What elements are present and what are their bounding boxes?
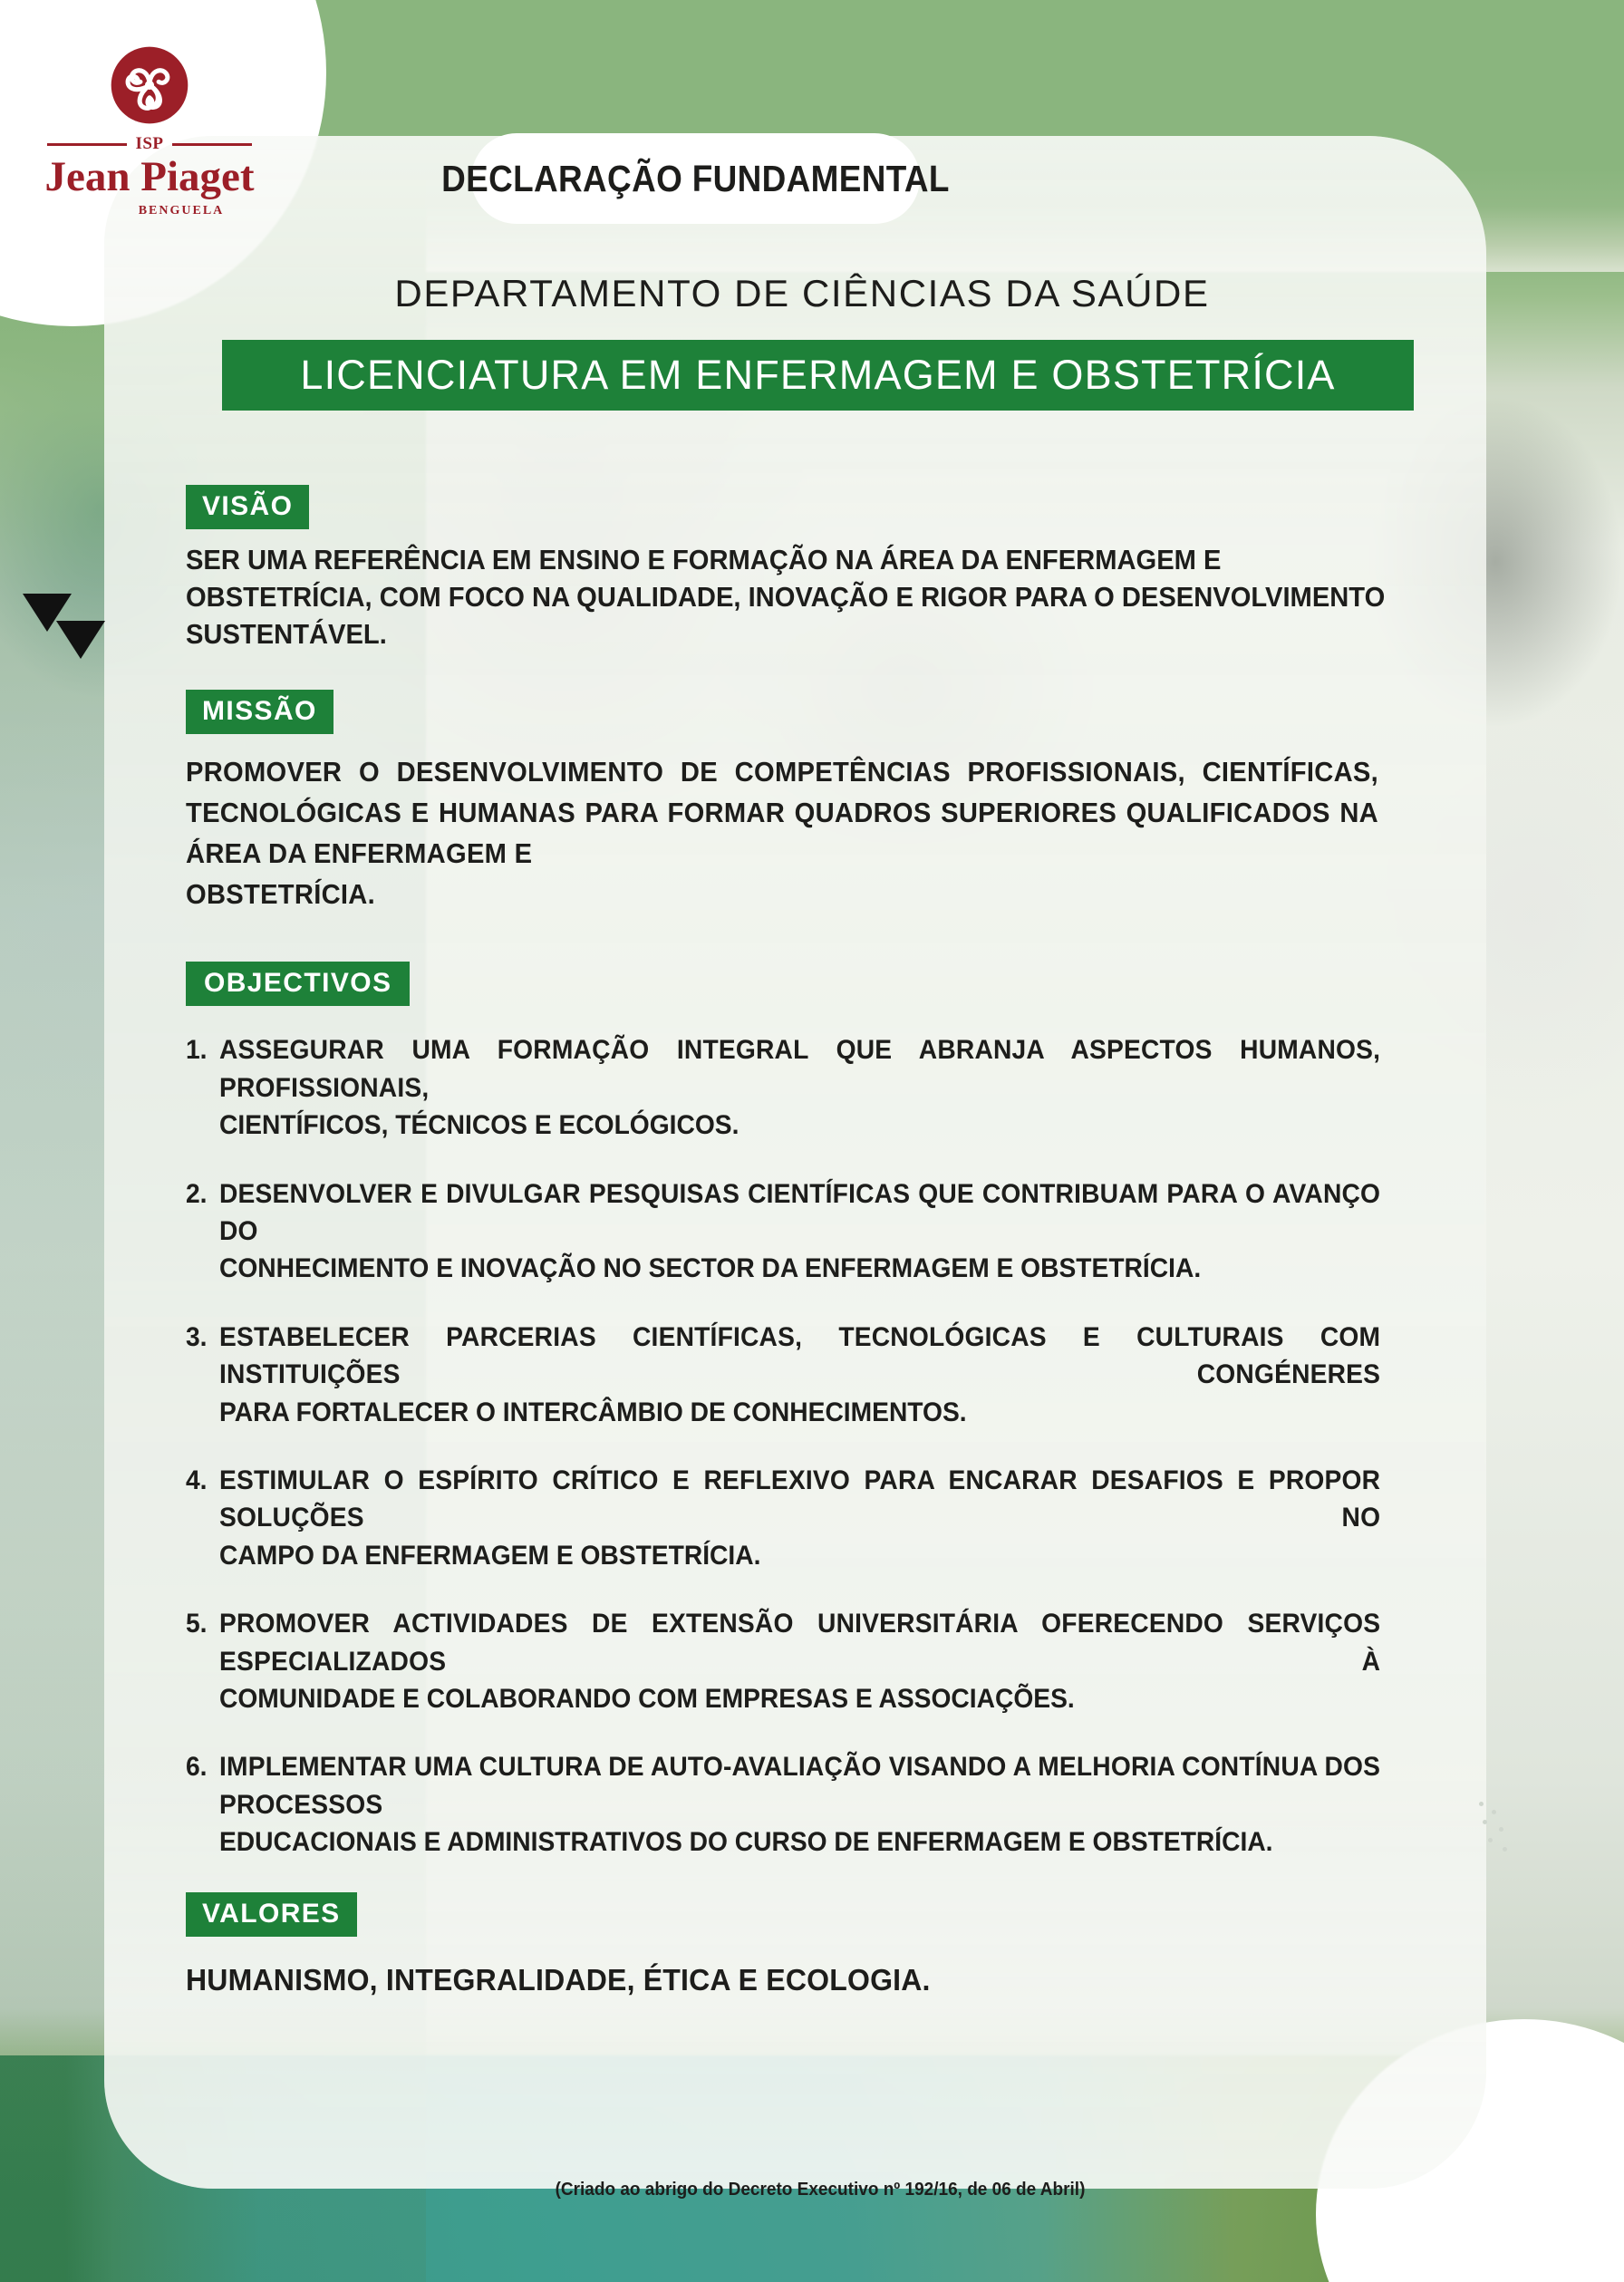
objective-text: DESENVOLVER E DIVULGAR PESQUISAS CIENTÍF…: [219, 1175, 1380, 1288]
section-vision: VISÃO SER UMA REFERÊNCIA EM ENSINO E FOR…: [186, 485, 1455, 653]
dot-cluster-decoration: [1479, 1802, 1515, 1856]
logo-city: BENGUELA: [82, 204, 281, 218]
objective-line-1: ASSEGURAR UMA FORMAÇÃO INTEGRAL QUE ABRA…: [219, 1031, 1380, 1107]
list-item: 3. ESTABELECER PARCERIAS CIENTÍFICAS, TE…: [186, 1319, 1455, 1431]
objective-line-1: ESTABELECER PARCERIAS CIENTÍFICAS, TECNO…: [219, 1319, 1380, 1394]
logo-acronym: ISP: [135, 134, 163, 154]
values-text: HUMANISMO, INTEGRALIDADE, ÉTICA E ECOLOG…: [186, 1960, 1416, 2000]
institution-logo: ISP Jean Piaget BENGUELA: [18, 44, 281, 218]
content-sections: VISÃO SER UMA REFERÊNCIA EM ENSINO E FOR…: [186, 485, 1455, 1999]
objective-number: 3.: [186, 1319, 208, 1431]
logo-isp-row: ISP: [18, 134, 281, 154]
list-item: 2. DESENVOLVER E DIVULGAR PESQUISAS CIEN…: [186, 1175, 1455, 1288]
objective-text: ASSEGURAR UMA FORMAÇÃO INTEGRAL QUE ABRA…: [219, 1031, 1380, 1144]
objective-line-1: ESTIMULAR O ESPÍRITO CRÍTICO E REFLEXIVO…: [219, 1462, 1380, 1537]
triskelion-icon: [108, 44, 191, 127]
badge-mission: MISSÃO: [186, 690, 333, 734]
department-subtitle: DEPARTAMENTO DE CIÊNCIAS DA SAÚDE: [245, 272, 1359, 315]
list-item: 6. IMPLEMENTAR UMA CULTURA DE AUTO-AVALI…: [186, 1748, 1455, 1861]
objective-line-1: IMPLEMENTAR UMA CULTURA DE AUTO-AVALIAÇÃ…: [219, 1748, 1380, 1823]
objective-line-1: PROMOVER ACTIVIDADES DE EXTENSÃO UNIVERS…: [219, 1605, 1380, 1680]
mission-text: PROMOVER O DESENVOLVIMENTO DE COMPETÊNCI…: [186, 752, 1378, 915]
logo-name: Jean Piaget: [18, 156, 281, 198]
triangle-decoration-icon: [56, 621, 105, 659]
objective-line-2: CONHECIMENTO E INOVAÇÃO NO SECTOR DA ENF…: [219, 1250, 1380, 1287]
vision-text: SER UMA REFERÊNCIA EM ENSINO E FORMAÇÃO …: [186, 542, 1396, 653]
course-name: LICENCIATURA EM ENFERMAGEM E OBSTETRÍCIA: [300, 352, 1335, 399]
objective-line-2: PARA FORTALECER O INTERCÂMBIO DE CONHECI…: [219, 1394, 1380, 1431]
objective-number: 5.: [186, 1605, 208, 1717]
section-objectives: OBJECTIVOS 1. ASSEGURAR UMA FORMAÇÃO INT…: [186, 962, 1455, 1861]
page-title-pill: DECLARAÇÃO FUNDAMENTAL: [471, 133, 920, 224]
mission-line-3: OBSTETRÍCIA.: [186, 875, 1378, 915]
objective-text: IMPLEMENTAR UMA CULTURA DE AUTO-AVALIAÇÃ…: [219, 1748, 1380, 1861]
objective-line-1: DESENVOLVER E DIVULGAR PESQUISAS CIENTÍF…: [219, 1175, 1380, 1251]
objectives-list: 1. ASSEGURAR UMA FORMAÇÃO INTEGRAL QUE A…: [186, 1031, 1455, 1861]
list-item: 4. ESTIMULAR O ESPÍRITO CRÍTICO E REFLEX…: [186, 1462, 1455, 1574]
logo-rule-right: [172, 143, 252, 146]
badge-values: VALORES: [186, 1892, 357, 1937]
objective-number: 2.: [186, 1175, 208, 1288]
objective-text: ESTIMULAR O ESPÍRITO CRÍTICO E REFLEXIVO…: [219, 1462, 1380, 1574]
page-title: DECLARAÇÃO FUNDAMENTAL: [441, 158, 950, 200]
logo-rule-left: [47, 143, 127, 146]
list-item: 1. ASSEGURAR UMA FORMAÇÃO INTEGRAL QUE A…: [186, 1031, 1455, 1144]
objective-number: 6.: [186, 1748, 208, 1861]
section-mission: MISSÃO PROMOVER O DESENVOLVIMENTO DE COM…: [186, 690, 1455, 915]
objective-text: ESTABELECER PARCERIAS CIENTÍFICAS, TECNO…: [219, 1319, 1380, 1431]
objective-number: 1.: [186, 1031, 208, 1144]
section-values: VALORES HUMANISMO, INTEGRALIDADE, ÉTICA …: [186, 1892, 1455, 2000]
footer-note: (Criado ao abrigo do Decreto Executivo n…: [217, 2180, 1423, 2200]
badge-vision: VISÃO: [186, 485, 309, 529]
objective-line-2: EDUCACIONAIS E ADMINISTRATIVOS DO CURSO …: [219, 1823, 1380, 1861]
objective-number: 4.: [186, 1462, 208, 1574]
list-item: 5. PROMOVER ACTIVIDADES DE EXTENSÃO UNIV…: [186, 1605, 1455, 1717]
objective-text: PROMOVER ACTIVIDADES DE EXTENSÃO UNIVERS…: [219, 1605, 1380, 1717]
course-banner: LICENCIATURA EM ENFERMAGEM E OBSTETRÍCIA: [222, 340, 1414, 411]
badge-objectives: OBJECTIVOS: [186, 962, 410, 1006]
poster-root: ISP Jean Piaget BENGUELA DECLARAÇÃO FUND…: [0, 0, 1624, 2282]
objective-line-2: CAMPO DA ENFERMAGEM E OBSTETRÍCIA.: [219, 1537, 1380, 1574]
objective-line-2: CIENTÍFICOS, TÉCNICOS E ECOLÓGICOS.: [219, 1107, 1380, 1144]
objective-line-2: COMUNIDADE E COLABORANDO COM EMPRESAS E …: [219, 1680, 1380, 1717]
